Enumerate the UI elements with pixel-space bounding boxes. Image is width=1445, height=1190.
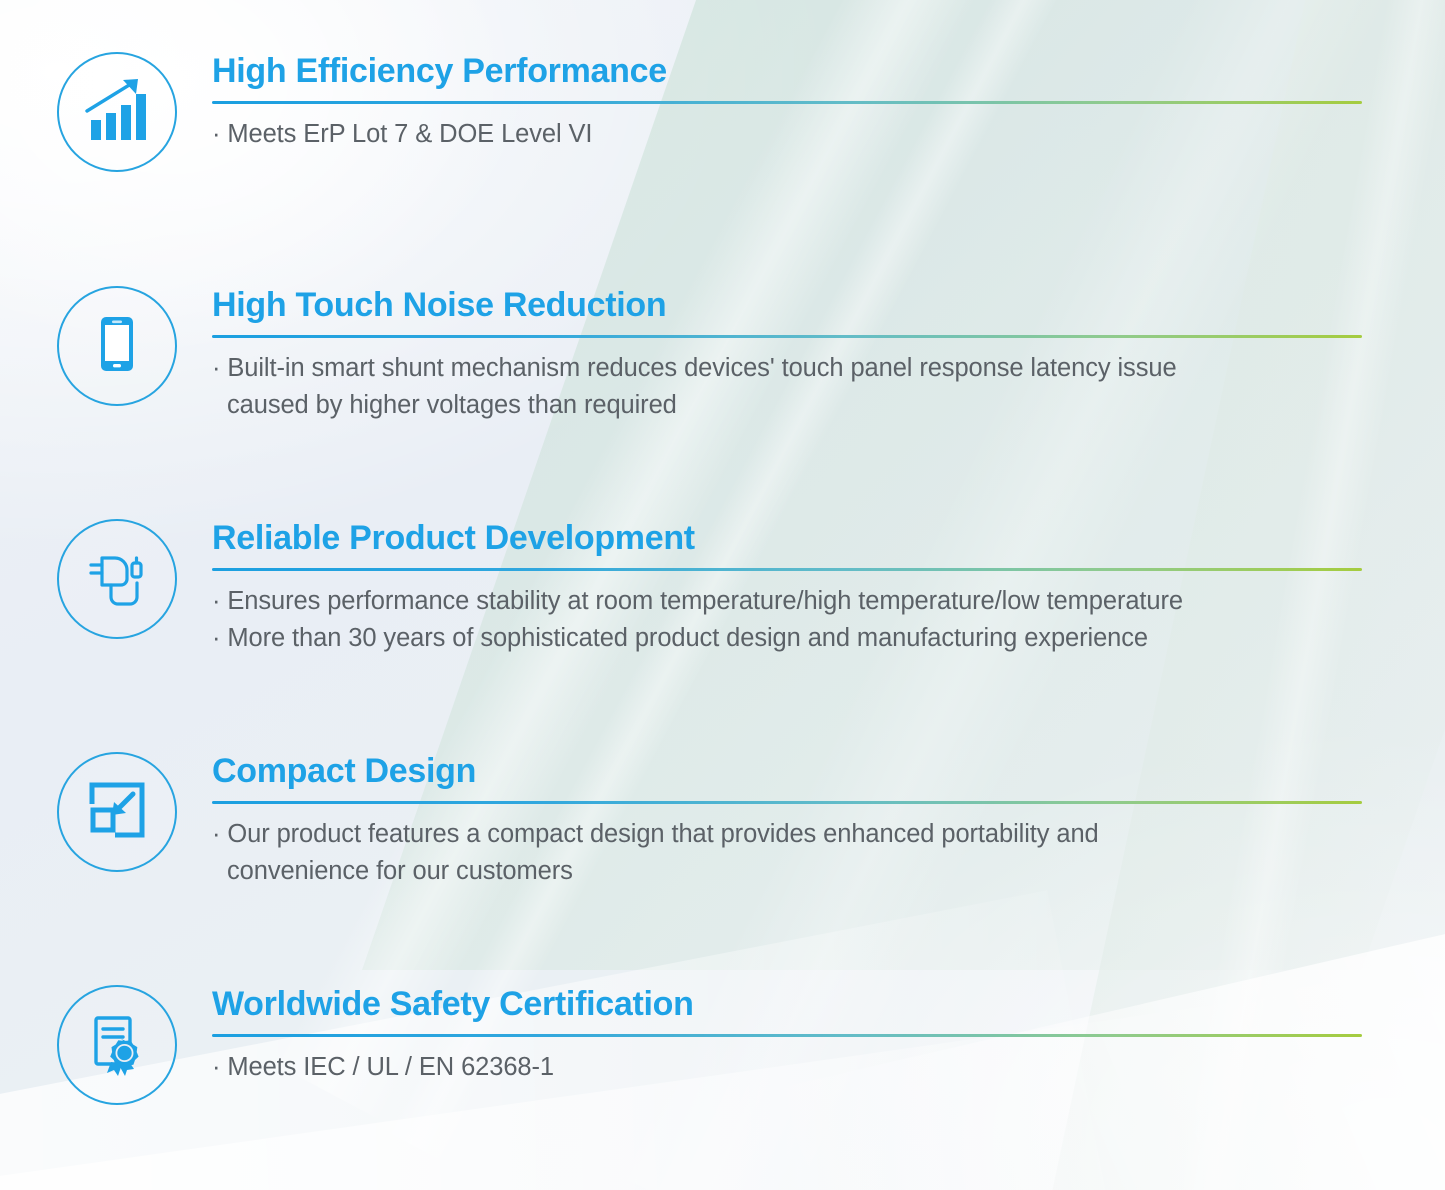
feature-icon-wrap — [55, 517, 179, 641]
feature-body-line: · Built-in smart shunt mechanism reduces… — [212, 350, 1362, 387]
feature-body-line: caused by higher voltages than required — [212, 387, 1362, 424]
feature-title: High Touch Noise Reduction — [212, 288, 1362, 324]
bar-chart-growth-icon — [82, 75, 152, 150]
feature-divider — [212, 568, 1362, 571]
feature-icon-wrap — [55, 50, 179, 174]
feature-body-line: · Meets IEC / UL / EN 62368-1 — [212, 1049, 1362, 1086]
icon-circle — [57, 286, 177, 406]
feature-text: Worldwide Safety Certification · Meets I… — [212, 983, 1362, 1086]
certificate-award-icon — [84, 1010, 150, 1081]
feature-divider — [212, 1034, 1362, 1037]
feature-body-line: · More than 30 years of sophisticated pr… — [212, 620, 1362, 657]
feature-title: Compact Design — [212, 754, 1362, 790]
feature-text: Compact Design · Our product features a … — [212, 750, 1362, 890]
feature-item-high-efficiency-performance: High Efficiency Performance · Meets ErP … — [55, 50, 1362, 174]
feature-divider — [212, 801, 1362, 804]
feature-icon-wrap — [55, 750, 179, 874]
feature-body: · Meets IEC / UL / EN 62368-1 — [212, 1049, 1362, 1086]
icon-circle — [57, 519, 177, 639]
feature-divider — [212, 335, 1362, 338]
feature-body: · Built-in smart shunt mechanism reduces… — [212, 350, 1362, 424]
feature-list: High Efficiency Performance · Meets ErP … — [0, 0, 1445, 1190]
icon-circle — [57, 52, 177, 172]
icon-circle — [57, 985, 177, 1105]
feature-body: · Meets ErP Lot 7 & DOE Level VI — [212, 116, 1362, 153]
feature-item-reliable-product-development: Reliable Product Development · Ensures p… — [55, 517, 1362, 657]
feature-text: High Touch Noise Reduction · Built-in sm… — [212, 284, 1362, 424]
feature-text: High Efficiency Performance · Meets ErP … — [212, 50, 1362, 153]
feature-icon-wrap — [55, 983, 179, 1107]
feature-body: · Our product features a compact design … — [212, 816, 1362, 890]
feature-body-line: convenience for our customers — [212, 853, 1362, 890]
feature-body-line: · Meets ErP Lot 7 & DOE Level VI — [212, 116, 1362, 153]
feature-item-worldwide-safety-certification: Worldwide Safety Certification · Meets I… — [55, 983, 1362, 1107]
feature-body-line: · Our product features a compact design … — [212, 816, 1362, 853]
feature-item-high-touch-noise-reduction: High Touch Noise Reduction · Built-in sm… — [55, 284, 1362, 424]
feature-item-compact-design: Compact Design · Our product features a … — [55, 750, 1362, 890]
power-adapter-icon — [81, 541, 153, 618]
feature-icon-wrap — [55, 284, 179, 408]
compact-resize-icon — [85, 778, 149, 847]
feature-body-line: · Ensures performance stability at room … — [212, 583, 1362, 620]
feature-divider — [212, 101, 1362, 104]
feature-title: Worldwide Safety Certification — [212, 987, 1362, 1023]
icon-circle — [57, 752, 177, 872]
feature-title: High Efficiency Performance — [212, 54, 1362, 90]
feature-body: · Ensures performance stability at room … — [212, 583, 1362, 657]
smartphone-icon — [84, 311, 150, 382]
feature-text: Reliable Product Development · Ensures p… — [212, 517, 1362, 657]
feature-title: Reliable Product Development — [212, 521, 1362, 557]
